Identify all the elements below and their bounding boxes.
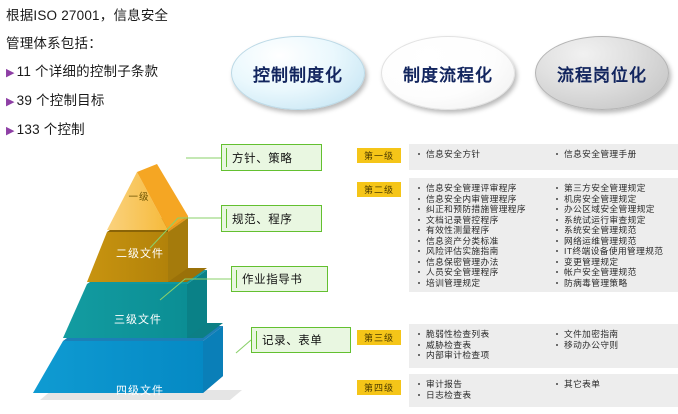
callout-tab-bar: [236, 270, 237, 288]
document-list-item: 内部审计检查项: [417, 350, 547, 361]
level-1-document-panel: 信息安全方针 信息安全管理手册: [409, 144, 678, 170]
callout-work-instruction: 作业指导书: [231, 266, 328, 292]
level-badge-2: 第二级: [357, 182, 401, 197]
level-2-document-panel: 信息安全管理评审程序信息安全内审管理程序纠正和预防措施管理程序文档记录管控程序有…: [409, 178, 678, 292]
document-list-item: 第三方安全管理规定: [555, 183, 678, 194]
document-list-item: 文档记录管控程序: [417, 215, 547, 226]
document-list-item: 信息资产分类标准: [417, 236, 547, 247]
level-2-right-column: 第三方安全管理规定机房安全管理规定办公区域安全管理规定系统试运行审查规定系统安全…: [547, 183, 678, 287]
document-list-item: 办公区域安全管理规定: [555, 204, 678, 215]
callout-tab-bar: [226, 209, 227, 228]
level-badge-3: 第三级: [357, 330, 401, 345]
level-badge-4: 第四级: [357, 380, 401, 395]
level-4-left-column: 审计报告日志检查表: [409, 379, 547, 402]
callout-spec-procedure: 规范、程序: [221, 205, 322, 232]
document-list-item: 系统试运行审查规定: [555, 215, 678, 226]
document-list-item: 威胁检查表: [417, 340, 547, 351]
document-list: 文件加密指南移动办公守则: [555, 329, 678, 350]
document-list-item: 人员安全管理程序: [417, 267, 547, 278]
document-list-item: 审计报告: [417, 379, 547, 390]
document-list-item: IT终端设备使用管理规范: [555, 246, 678, 257]
document-list-item: 防病毒管理策略: [555, 278, 678, 289]
callout-record-form: 记录、表单: [251, 327, 351, 353]
level-3-right-column: 文件加密指南移动办公守则: [547, 329, 678, 363]
document-list-item: 有效性测量程序: [417, 225, 547, 236]
document-list-item: 信息保密管理办法: [417, 257, 547, 268]
level-4-document-panel: 审计报告日志检查表 其它表单: [409, 374, 678, 407]
level-1-right-column: 信息安全管理手册: [547, 149, 678, 165]
document-list: 审计报告日志检查表: [417, 379, 547, 400]
document-list: 信息安全方针: [417, 149, 547, 160]
document-list-item: 帐户安全管理规范: [555, 267, 678, 278]
document-list-item: 信息安全方针: [417, 149, 547, 160]
callout-label: 规范、程序: [232, 211, 293, 227]
level-badge-1: 第一级: [357, 148, 401, 163]
document-list-item: 系统安全管理规范: [555, 225, 678, 236]
document-list-item: 日志检查表: [417, 390, 547, 401]
document-list: 第三方安全管理规定机房安全管理规定办公区域安全管理规定系统试运行审查规定系统安全…: [555, 183, 678, 288]
document-list-item: 培训管理规定: [417, 278, 547, 289]
document-list-item: 变更管理规定: [555, 257, 678, 268]
document-list-item: 文件加密指南: [555, 329, 678, 340]
level-3-left-column: 脆弱性检查列表威胁检查表内部审计检查项: [409, 329, 547, 363]
level-1-left-column: 信息安全方针: [409, 149, 547, 165]
callout-label: 记录、表单: [262, 332, 323, 348]
level-4-right-column: 其它表单: [547, 379, 678, 402]
document-list: 其它表单: [555, 379, 678, 390]
callout-tab-bar: [226, 148, 227, 167]
callout-tab-bar: [256, 331, 257, 349]
document-list-item: 信息安全内审管理程序: [417, 194, 547, 205]
slide-canvas: 根据ISO 27001，信息安全 管理体系包括： ▶ 11 个详细的控制子条款 …: [0, 0, 678, 414]
callout-label: 方针、策略: [232, 150, 293, 166]
document-list: 信息安全管理评审程序信息安全内审管理程序纠正和预防措施管理程序文档记录管控程序有…: [417, 183, 547, 288]
document-list-item: 脆弱性检查列表: [417, 329, 547, 340]
document-list-item: 机房安全管理规定: [555, 194, 678, 205]
document-list: 脆弱性检查列表威胁检查表内部审计检查项: [417, 329, 547, 361]
document-list-item: 信息安全管理手册: [555, 149, 678, 160]
document-list-item: 网络运维管理规范: [555, 236, 678, 247]
document-list-item: 风险评估实施指南: [417, 246, 547, 257]
document-list-item: 移动办公守则: [555, 340, 678, 351]
level-3-document-panel: 脆弱性检查列表威胁检查表内部审计检查项 文件加密指南移动办公守则: [409, 324, 678, 368]
callout-label: 作业指导书: [242, 271, 303, 287]
level-2-left-column: 信息安全管理评审程序信息安全内审管理程序纠正和预防措施管理程序文档记录管控程序有…: [409, 183, 547, 287]
document-list: 信息安全管理手册: [555, 149, 678, 160]
document-list-item: 信息安全管理评审程序: [417, 183, 547, 194]
document-list-item: 其它表单: [555, 379, 678, 390]
document-list-item: 纠正和预防措施管理程序: [417, 204, 547, 215]
callout-policy-strategy: 方针、策略: [221, 144, 322, 171]
